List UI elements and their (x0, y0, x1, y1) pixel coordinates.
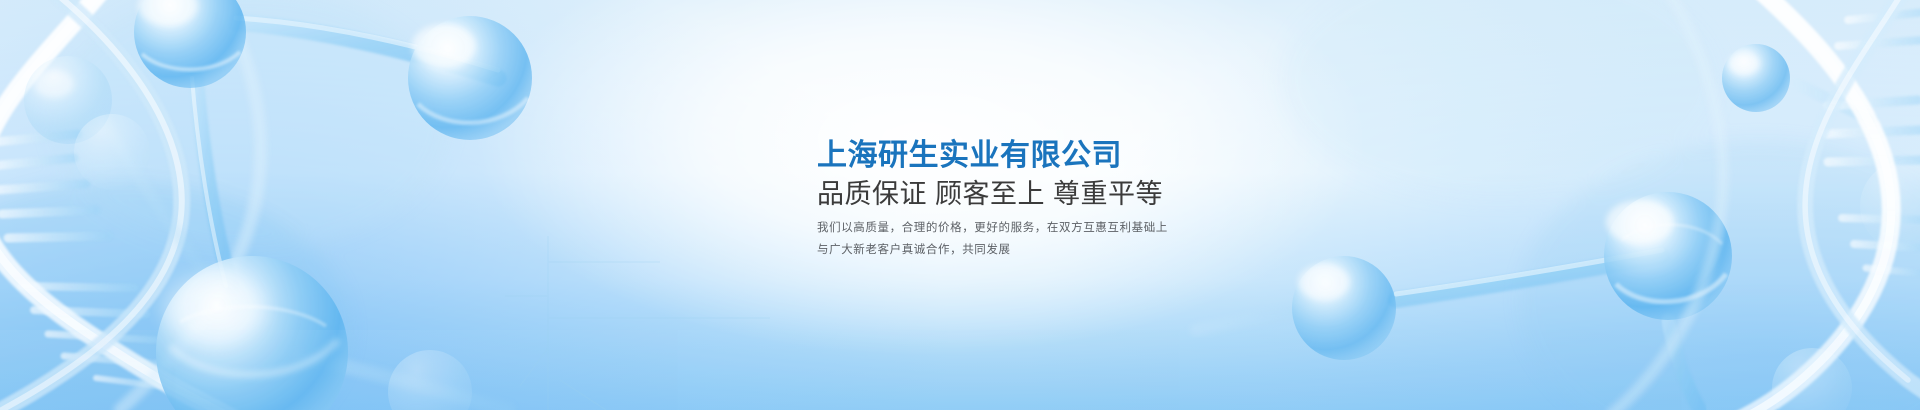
description-line: 我们以高质量，合理的价格，更好的服务，在双方互惠互利基础上 (817, 217, 1247, 239)
company-slogan: 品质保证 顾客至上 尊重平等 (817, 178, 1247, 211)
banner-text-block: 上海研生实业有限公司 品质保证 顾客至上 尊重平等 我们以高质量，合理的价格，更… (817, 138, 1247, 261)
company-hero-banner: 上海研生实业有限公司 品质保证 顾客至上 尊重平等 我们以高质量，合理的价格，更… (0, 0, 1920, 410)
company-description: 我们以高质量，合理的价格，更好的服务，在双方互惠互利基础上 与广大新老客户真诚合… (817, 217, 1247, 261)
description-line: 与广大新老客户真诚合作，共同发展 (817, 239, 1247, 261)
banner-content: 上海研生实业有限公司 品质保证 顾客至上 尊重平等 我们以高质量，合理的价格，更… (0, 0, 1920, 410)
company-title: 上海研生实业有限公司 (817, 138, 1247, 174)
